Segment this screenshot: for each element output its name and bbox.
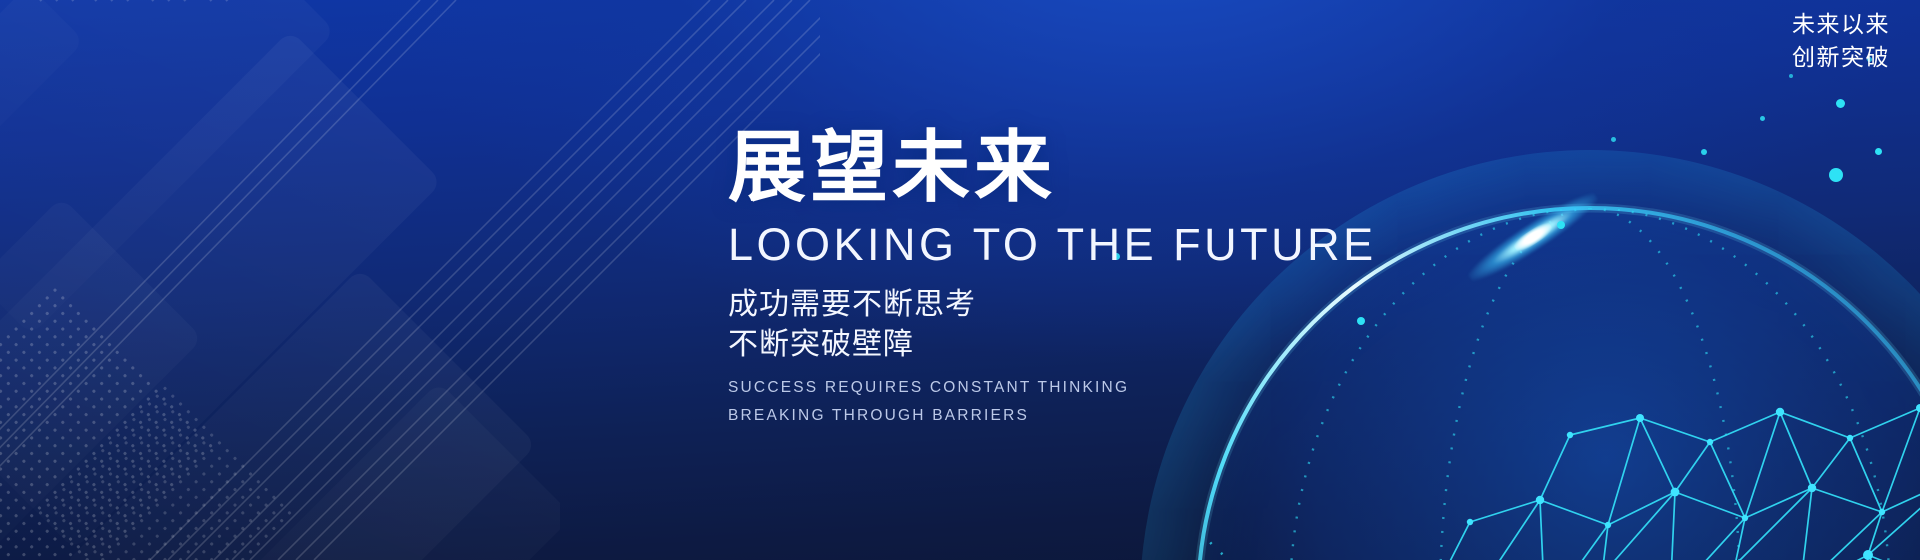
deco-line <box>183 0 517 2</box>
diamond-dot-grid <box>31 381 300 560</box>
deco-slab <box>0 197 203 560</box>
deco-line <box>126 0 460 2</box>
tagline-en-line: SUCCESS REQUIRES CONSTANT THINKING <box>728 374 1448 402</box>
tagline-en-line: BREAKING THROUGH BARRIERS <box>728 402 1448 430</box>
deco-line <box>39 0 373 2</box>
deco-line <box>94 0 428 2</box>
deco-line <box>225 0 559 2</box>
particle-dot <box>1701 149 1707 155</box>
particle-dot <box>1789 74 1793 78</box>
promo-banner: 展望未来 LOOKING TO THE FUTURE 成功需要不断思考 不断突破… <box>0 0 1920 560</box>
tagline-english: SUCCESS REQUIRES CONSTANT THINKING BREAK… <box>728 374 1448 429</box>
deco-slab <box>0 0 335 335</box>
particle-dot <box>1611 137 1616 142</box>
deco-line <box>151 0 485 2</box>
page-title: 展望未来 <box>728 128 1448 206</box>
deco-line <box>55 0 389 2</box>
tagline-chinese: 成功需要不断思考 不断突破壁障 <box>728 285 1448 364</box>
diamond-dot-grid <box>0 282 218 560</box>
diagonal-hairlines <box>0 0 820 560</box>
diagonal-slab-pattern <box>0 0 560 560</box>
deco-slab <box>0 30 442 550</box>
particle-dot <box>1836 99 1845 108</box>
tagline-cn-line: 成功需要不断思考 <box>728 285 1448 325</box>
rim-light-flare <box>1463 185 1603 289</box>
particle-dot <box>1875 148 1882 155</box>
corner-slogan-line: 创新突破 <box>1792 41 1890 74</box>
deco-slab <box>63 268 537 560</box>
particle-dot <box>1557 221 1565 229</box>
corner-slogan-line: 未来以来 <box>1792 8 1890 41</box>
rim-light-core <box>1512 220 1555 255</box>
deco-slab <box>227 382 560 560</box>
particle-dot <box>1760 116 1765 121</box>
deco-line <box>110 0 444 2</box>
tagline-cn-line: 不断突破壁障 <box>728 325 1448 365</box>
corner-slogan: 未来以来 创新突破 <box>1792 8 1890 73</box>
deco-slab <box>0 0 85 275</box>
particle-dot <box>1829 168 1843 182</box>
deco-line <box>71 0 405 2</box>
deco-line <box>167 0 501 2</box>
headline-english: LOOKING TO THE FUTURE <box>728 222 1448 267</box>
headline-block: 展望未来 LOOKING TO THE FUTURE 成功需要不断思考 不断突破… <box>728 128 1448 429</box>
deco-line <box>209 0 543 2</box>
